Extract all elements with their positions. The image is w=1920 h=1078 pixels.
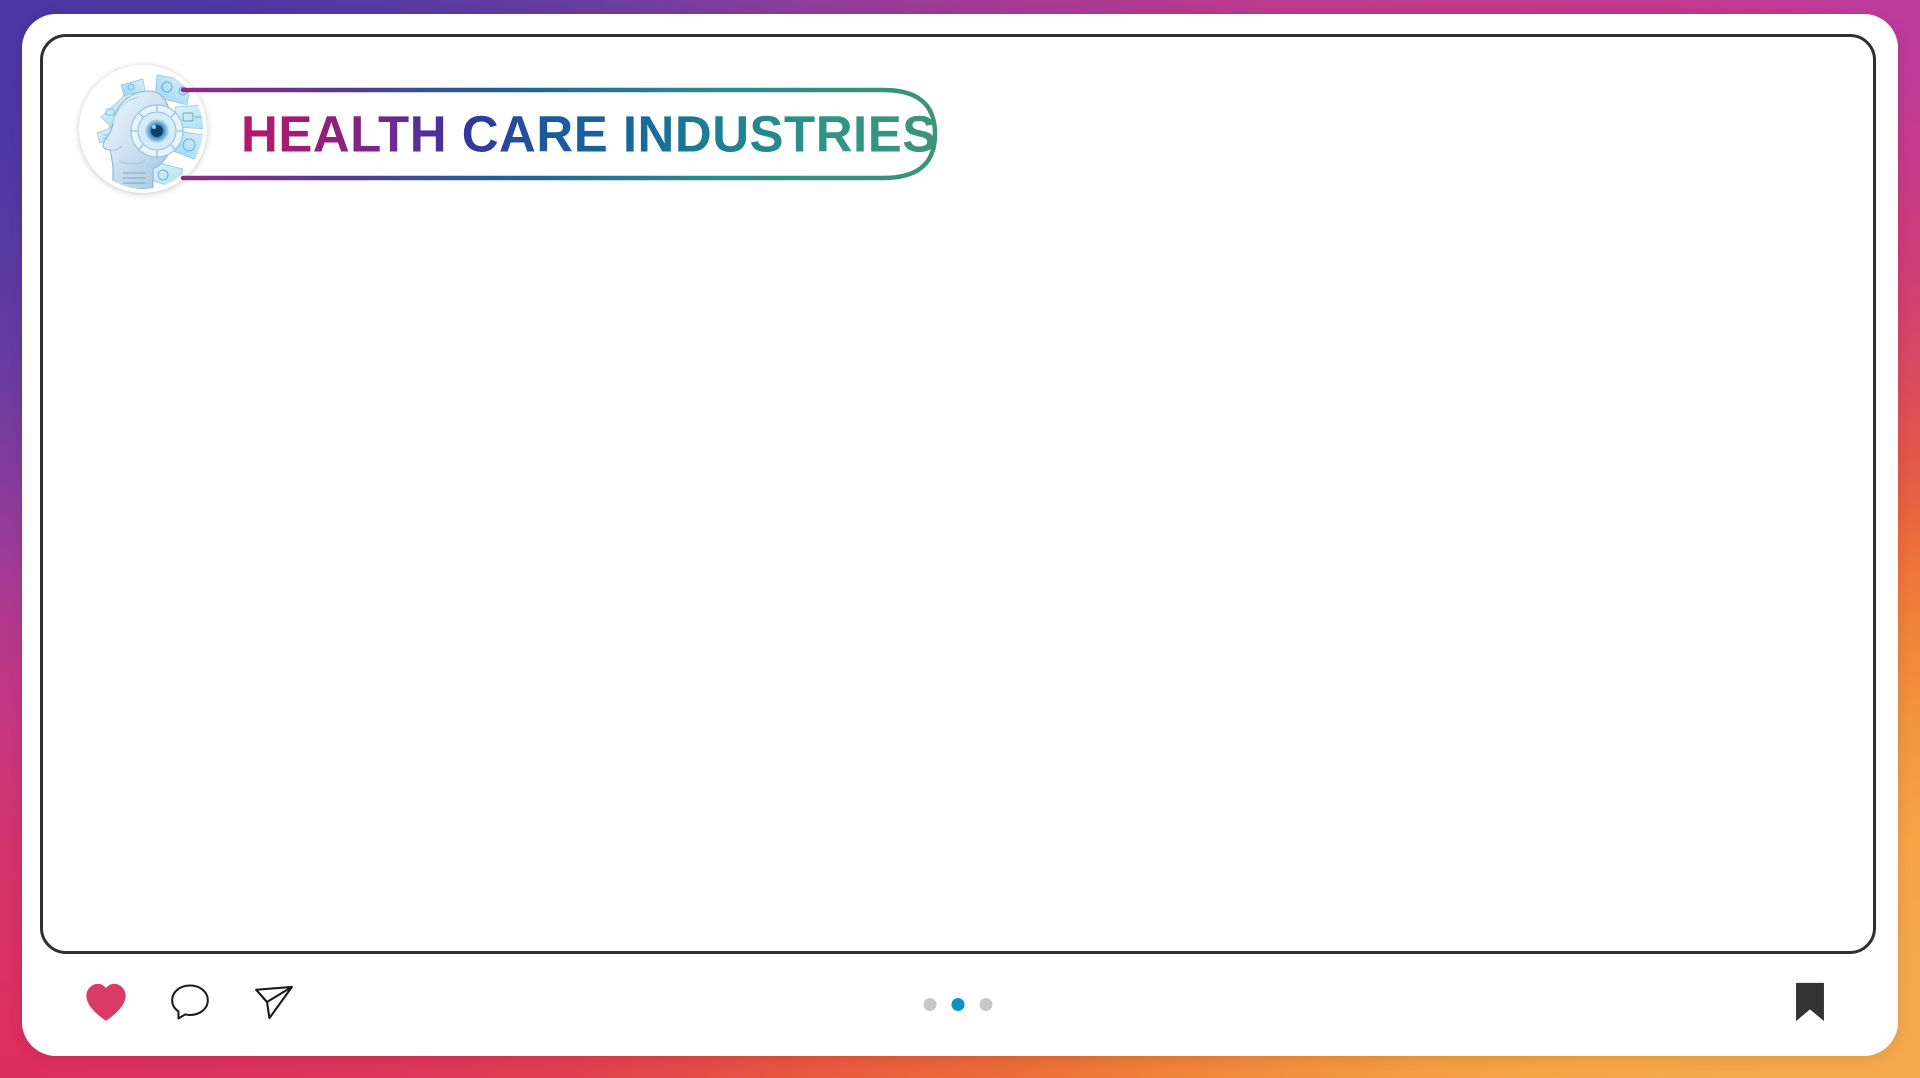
instagram-post-frame: HEALTH CARE INDUSTRIES <box>0 0 1920 1078</box>
comment-bubble-icon <box>169 981 211 1023</box>
heart-icon <box>84 982 128 1022</box>
carousel-page-dots[interactable] <box>924 998 993 1011</box>
brand-header: HEALTH CARE INDUSTRIES <box>43 37 1873 227</box>
post-media-area[interactable]: HEALTH CARE INDUSTRIES <box>40 34 1876 954</box>
action-bar-left-group <box>82 978 298 1026</box>
save-button[interactable] <box>1786 978 1834 1026</box>
brand-title-banner: HEALTH CARE INDUSTRIES <box>183 85 938 183</box>
action-bar-right-group <box>1786 978 1834 1026</box>
carousel-dot-3[interactable] <box>980 998 993 1011</box>
carousel-dot-2[interactable] <box>952 998 965 1011</box>
share-paper-plane-icon <box>253 981 295 1023</box>
post-card: HEALTH CARE INDUSTRIES <box>22 14 1898 1056</box>
comment-button[interactable] <box>166 978 214 1026</box>
share-button[interactable] <box>250 978 298 1026</box>
carousel-dot-1[interactable] <box>924 998 937 1011</box>
post-action-bar <box>40 972 1876 1048</box>
bookmark-icon <box>1789 980 1831 1024</box>
like-button[interactable] <box>82 978 130 1026</box>
page-title: HEALTH CARE INDUSTRIES <box>241 105 937 164</box>
